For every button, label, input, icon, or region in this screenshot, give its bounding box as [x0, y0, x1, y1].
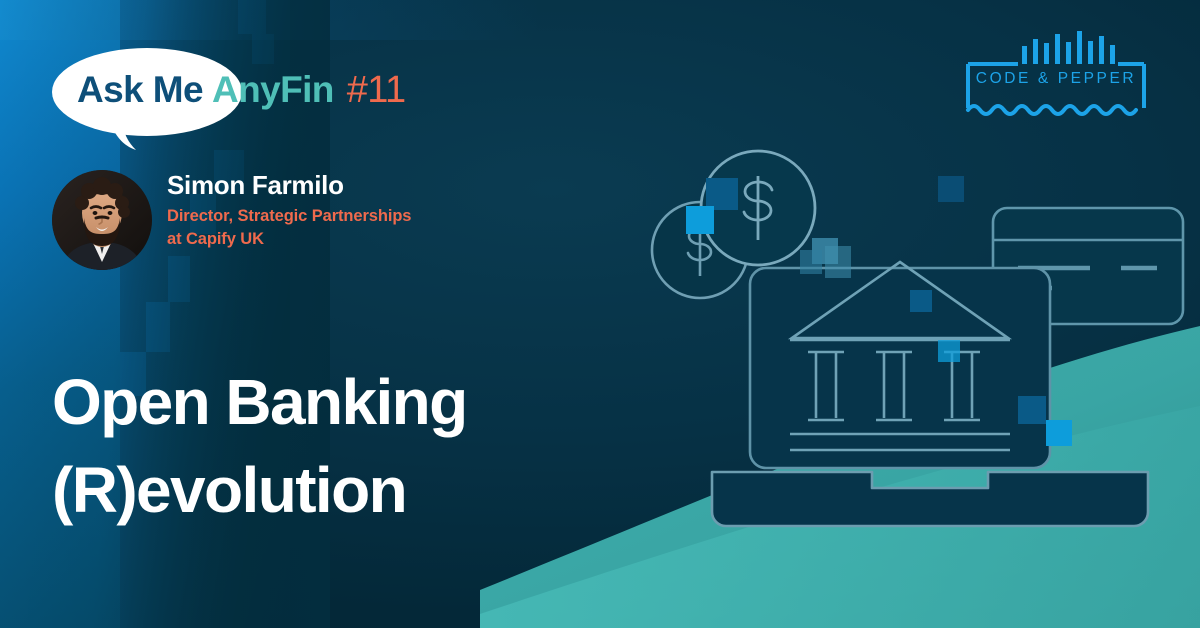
- decorative-square-9: [1018, 396, 1046, 424]
- kicker-ask-me: Ask Me: [52, 69, 203, 111]
- decorative-square-3: [938, 176, 964, 202]
- decorative-square-7: [910, 290, 932, 312]
- decorative-square-10: [1046, 420, 1072, 446]
- episode-kicker: Ask Me AnyFin #11: [52, 44, 472, 152]
- code-and-pepper-logo[interactable]: CODE & PEPPER: [960, 24, 1152, 128]
- headline-line-2: (R)evolution: [52, 446, 692, 534]
- speaker-name: Simon Farmilo: [167, 168, 527, 202]
- decorative-square-5: [825, 246, 851, 278]
- page-title: Open Banking (R)evolution: [52, 358, 692, 534]
- speaker-role: Director, Strategic Partnerships at Capi…: [167, 205, 527, 251]
- decorative-square-6: [800, 250, 822, 274]
- decorative-square-8: [938, 340, 960, 362]
- speaker-role-line2: at Capify UK: [167, 228, 527, 251]
- avatar: [52, 170, 152, 270]
- promo-banner: Ask Me AnyFin #11: [0, 0, 1200, 628]
- speaker-role-line1: Director, Strategic Partnerships: [167, 205, 527, 228]
- logo-bars-icon: [1022, 31, 1115, 64]
- logo-text: CODE & PEPPER: [960, 70, 1152, 88]
- speaker-info: Simon Farmilo Director, Strategic Partne…: [167, 168, 527, 251]
- kicker-episode: #11: [334, 69, 406, 112]
- kicker-anyfin: AnyFin: [203, 69, 334, 111]
- logo-wave-icon: [968, 106, 1136, 114]
- avatar-photo: [52, 170, 152, 270]
- speaker-block: Simon Farmilo Director, Strategic Partne…: [52, 168, 522, 272]
- headline-line-1: Open Banking: [52, 358, 692, 446]
- decorative-square-2: [686, 206, 714, 234]
